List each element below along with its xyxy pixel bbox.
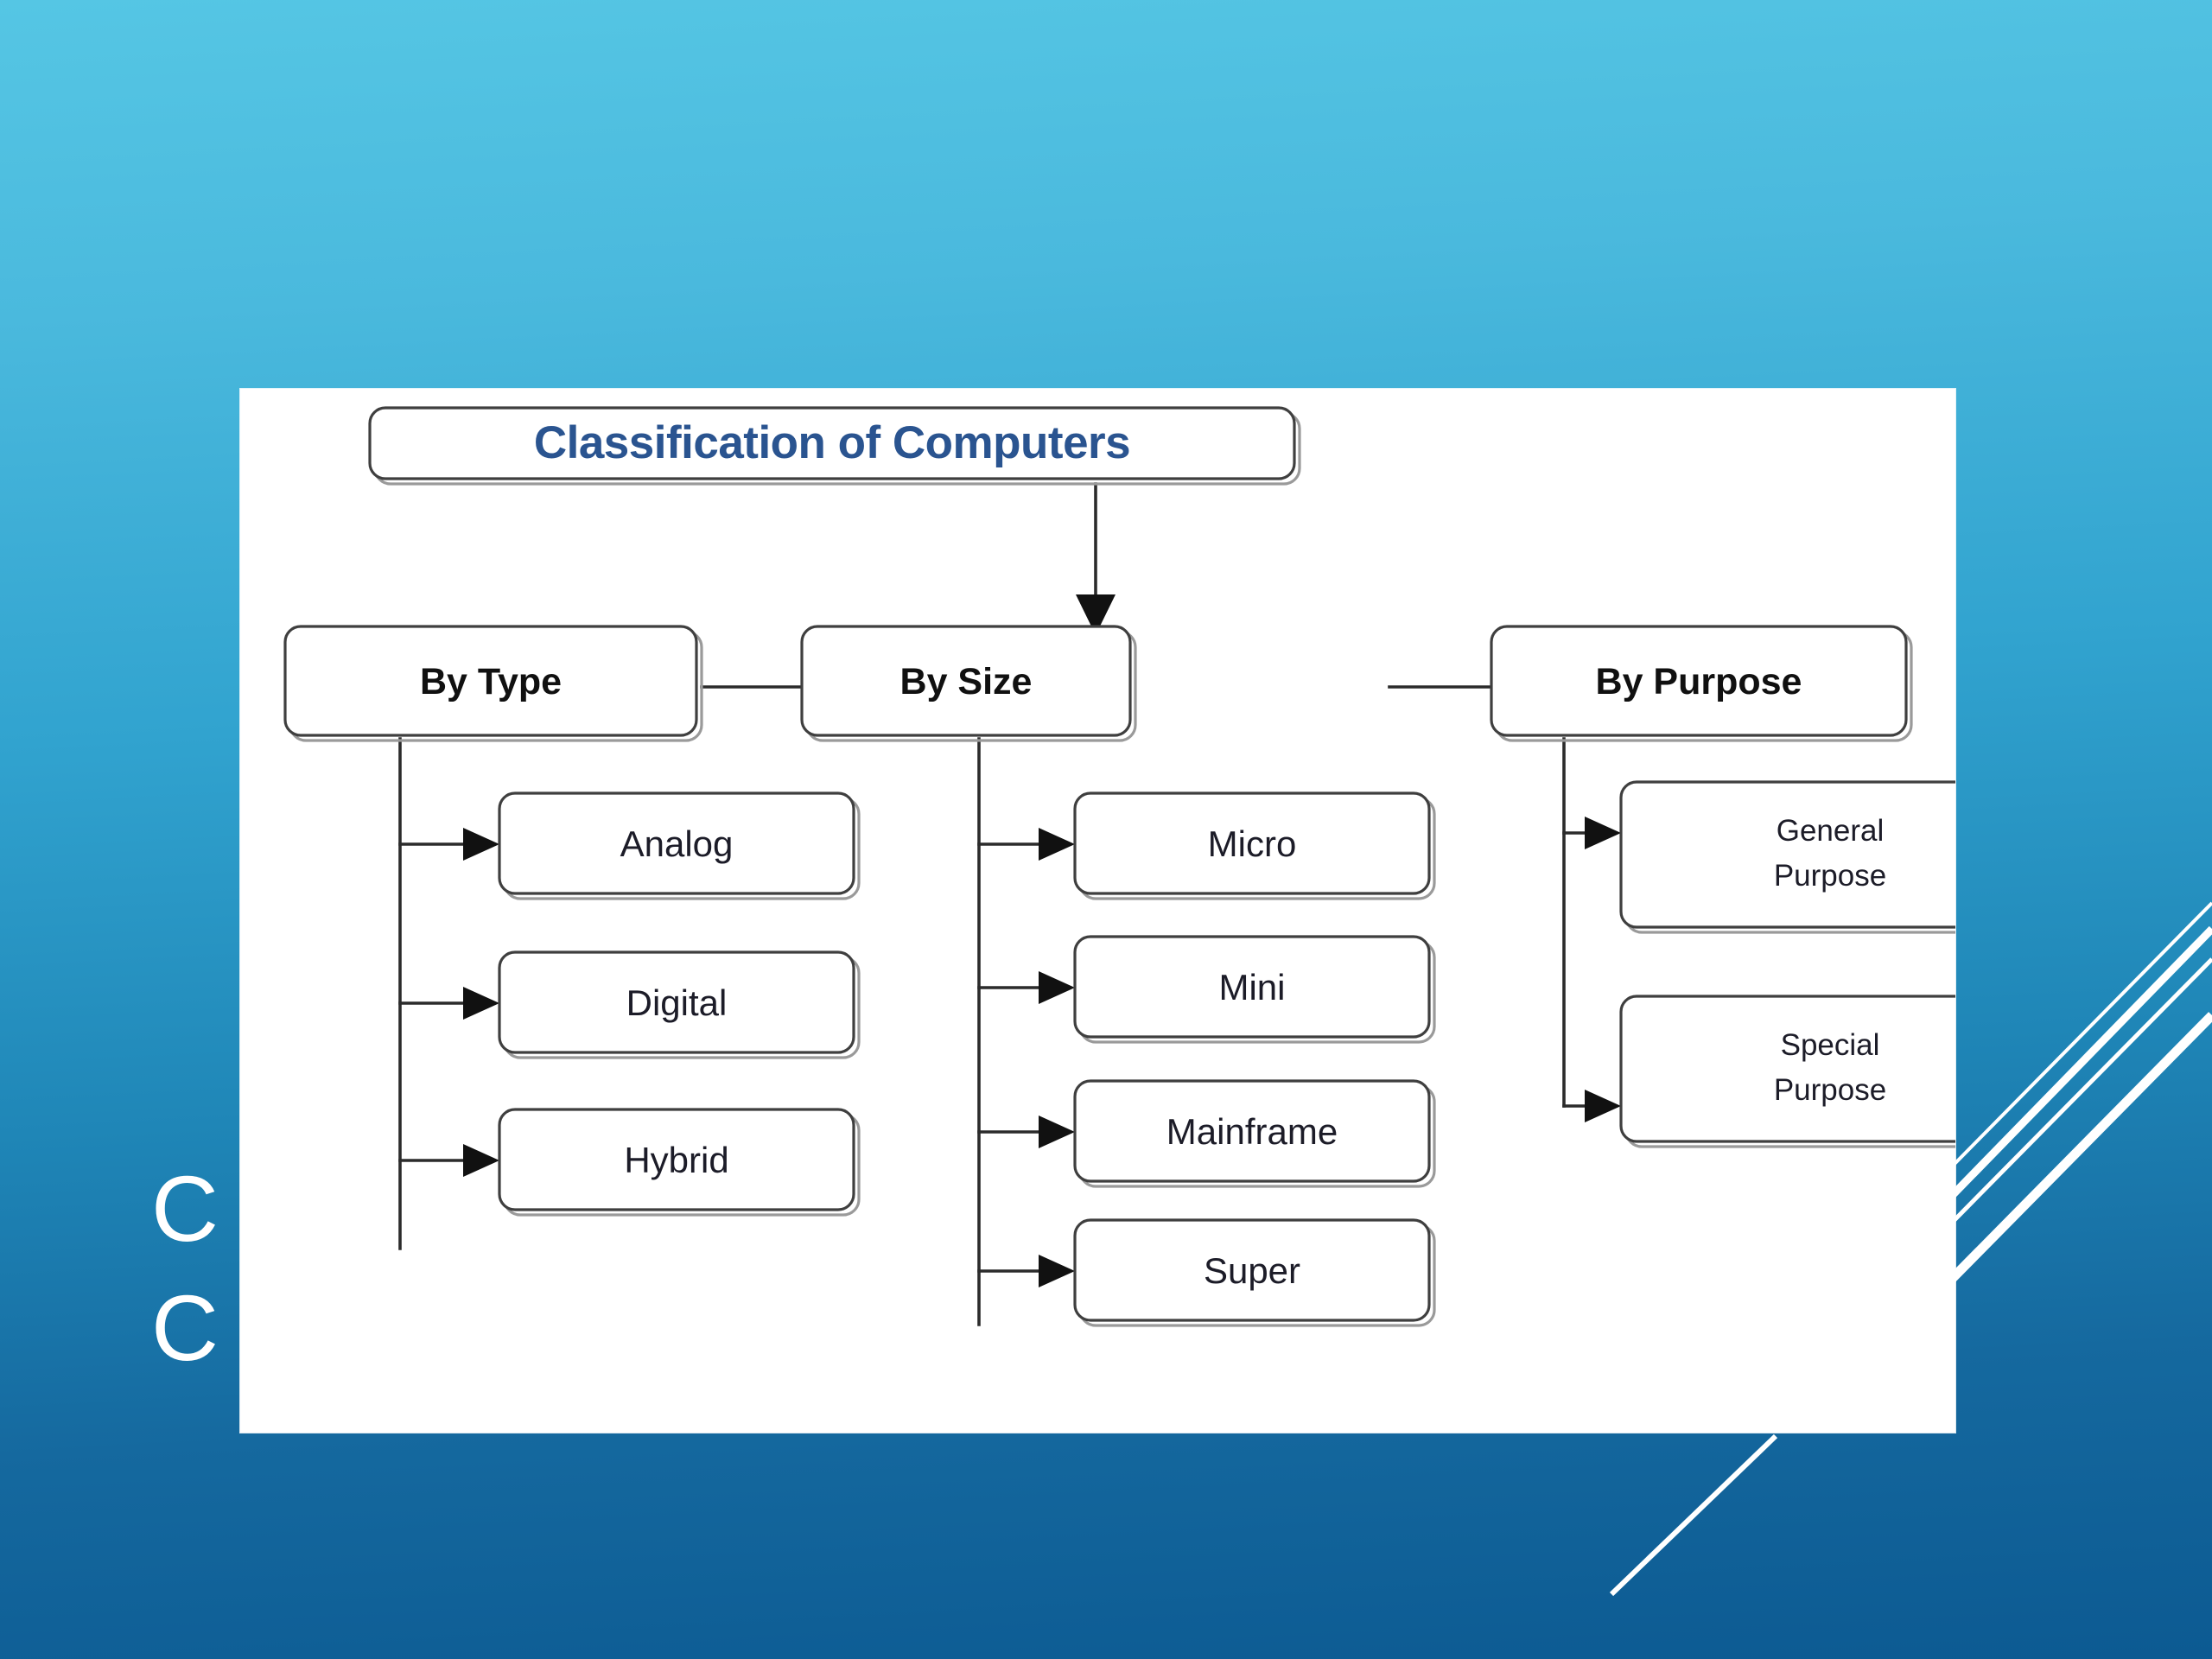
category-box-by-size[interactable]: By Size: [802, 626, 1135, 741]
category-by-type-label: By Type: [420, 661, 562, 702]
classification-diagram: Classification of Computers By Type By S…: [240, 389, 1955, 1433]
leaf-hybrid-label: Hybrid: [624, 1140, 728, 1180]
content-panel: Classification of Computers By Type By S…: [240, 389, 1955, 1433]
root-box-label: Classification of Computers: [534, 417, 1130, 468]
category-by-purpose-label: By Purpose: [1596, 661, 1802, 702]
leaf-box-special-purpose[interactable]: Special Purpose: [1621, 996, 1955, 1147]
leaf-box-mainframe[interactable]: Mainframe: [1075, 1081, 1434, 1186]
leaf-special-purpose-label-line2: Purpose: [1774, 1073, 1886, 1107]
leaf-special-purpose-label-line1: Special: [1781, 1028, 1880, 1062]
leaf-digital-label: Digital: [626, 982, 728, 1023]
leaf-box-super[interactable]: Super: [1075, 1220, 1434, 1325]
connector-bypurpose-branch: [1564, 739, 1621, 1122]
leaf-box-hybrid[interactable]: Hybrid: [499, 1109, 859, 1215]
leaf-mini-label: Mini: [1218, 967, 1285, 1007]
leaf-super-label: Super: [1204, 1250, 1300, 1291]
leaf-box-micro[interactable]: Micro: [1075, 793, 1434, 899]
leaf-analog-label: Analog: [620, 823, 734, 864]
category-box-by-purpose[interactable]: By Purpose: [1491, 626, 1911, 741]
category-box-by-type[interactable]: By Type: [285, 626, 702, 741]
connector-root-to-bysize: [1076, 484, 1116, 635]
leaf-box-mini[interactable]: Mini: [1075, 937, 1434, 1042]
leaf-mainframe-label: Mainframe: [1166, 1111, 1338, 1152]
presentation-slide: C C: [0, 0, 2212, 1659]
category-by-size-label: By Size: [900, 661, 1033, 702]
root-box[interactable]: Classification of Computers: [370, 408, 1300, 484]
leaf-micro-label: Micro: [1208, 823, 1297, 864]
leaf-general-purpose-label-line2: Purpose: [1774, 859, 1886, 893]
leaf-box-general-purpose[interactable]: General Purpose: [1621, 782, 1955, 932]
leaf-box-analog[interactable]: Analog: [499, 793, 859, 899]
connector-bytype-branch: [400, 739, 499, 1249]
leaf-general-purpose-label-line1: General: [1777, 814, 1885, 848]
connector-bysize-branch: [979, 739, 1075, 1325]
leaf-box-digital[interactable]: Digital: [499, 952, 859, 1058]
